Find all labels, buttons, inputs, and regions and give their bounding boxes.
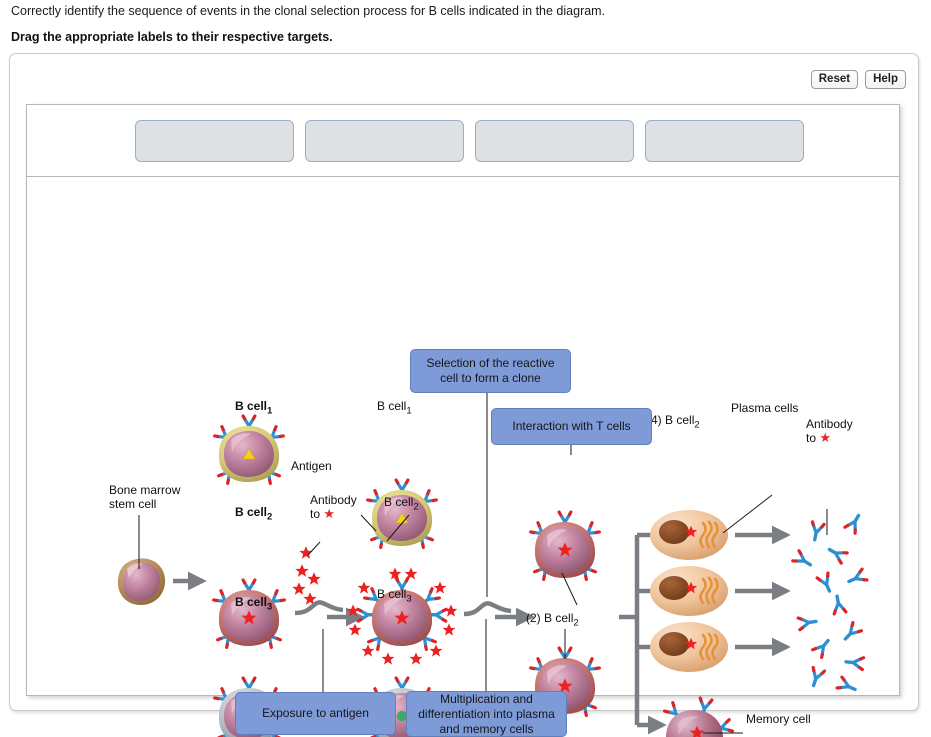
question-stem: Correctly identify the sequence of event… bbox=[11, 3, 891, 19]
b-cell-2-label-col-a: B cell2 bbox=[235, 505, 272, 524]
b-cell-1-text: B cell bbox=[235, 399, 267, 413]
antigen-star-glyph: ★ bbox=[323, 506, 335, 521]
b-cell-3-label-col-a: B cell3 bbox=[235, 595, 272, 614]
reset-button[interactable]: Reset bbox=[811, 70, 858, 89]
b-cell-1-sub: 1 bbox=[406, 405, 411, 416]
b-cell-1-text: B cell bbox=[377, 399, 406, 413]
antigen-star-glyph: ★ bbox=[819, 430, 831, 445]
b-cell-2-sub: 2 bbox=[413, 501, 418, 512]
drop-slot-1[interactable] bbox=[135, 120, 294, 162]
to-word: to bbox=[806, 431, 816, 445]
memory-cell-icon bbox=[665, 698, 733, 737]
drop-slot-2[interactable] bbox=[305, 120, 464, 162]
stem-cell-icon bbox=[118, 558, 165, 605]
antigen-star-icon bbox=[292, 546, 320, 605]
b-cell-2-label-col-b: B cell2 bbox=[384, 495, 419, 514]
b-cell-icon bbox=[531, 512, 600, 579]
b-cell-2-text: B cell bbox=[384, 495, 413, 509]
step-2-b-cell-label: (2) B cell2 bbox=[526, 611, 579, 630]
b-cell-2-sub: 2 bbox=[267, 511, 272, 522]
b-cell-2-text: B cell bbox=[235, 505, 267, 519]
question-instruction: Drag the appropriate labels to their res… bbox=[11, 29, 891, 45]
plasma-cell-icon bbox=[650, 566, 728, 616]
drop-slot-4[interactable] bbox=[645, 120, 804, 162]
help-button[interactable]: Help bbox=[865, 70, 906, 89]
antibody-word: Antibody bbox=[310, 493, 357, 507]
b-cell-3-sub: 3 bbox=[267, 601, 272, 612]
diagram-canvas: Bone marrow stem cell B cell1 B cell2 B … bbox=[27, 177, 901, 696]
memory-cell-label: Memory cell bbox=[746, 712, 811, 726]
b-cell-1-label-col-b: B cell1 bbox=[377, 399, 412, 418]
to-word: to bbox=[310, 507, 320, 521]
bone-marrow-line-2: stem cell bbox=[109, 497, 156, 511]
antibody-icon bbox=[793, 513, 867, 695]
b-cell-3-text: B cell bbox=[235, 595, 267, 609]
plasma-cell-icon bbox=[650, 622, 728, 672]
drop-slot-3[interactable] bbox=[475, 120, 634, 162]
activity-panel: Reset Help bbox=[9, 53, 919, 711]
step-2-prefix: (2) bbox=[526, 611, 541, 625]
label-bank-strip bbox=[27, 105, 899, 177]
step-4-cell: B cell bbox=[665, 413, 694, 427]
diagram-board: Bone marrow stem cell B cell1 B cell2 B … bbox=[26, 104, 900, 696]
antibody-to-label-left: Antibody to ★ bbox=[310, 493, 357, 521]
b-cell-icon bbox=[215, 416, 284, 483]
answer-label-t-cell-interaction[interactable]: Interaction with T cells bbox=[491, 408, 652, 445]
answer-label-exposure-antigen[interactable]: Exposure to antigen bbox=[235, 692, 396, 735]
diagram-artwork bbox=[27, 177, 901, 696]
antibody-to-label-right: Antibody to ★ bbox=[806, 417, 853, 445]
plasma-cell-icon bbox=[650, 510, 728, 560]
step-4-b-cell-label: (4) B cell2 bbox=[647, 413, 700, 432]
b-cell-1-sub: 1 bbox=[267, 405, 272, 416]
plasma-cells-label: Plasma cells bbox=[731, 401, 798, 415]
b-cell-1-label-col-a: B cell1 bbox=[235, 399, 272, 418]
antibody-word: Antibody bbox=[806, 417, 853, 431]
panel-toolbar: Reset Help bbox=[811, 70, 906, 89]
step-2-sub: 2 bbox=[573, 617, 578, 628]
b-cell-3-text: B cell bbox=[377, 587, 406, 601]
answer-label-selection-clone[interactable]: Selection of the reactive cell to form a… bbox=[410, 349, 571, 393]
bone-marrow-line-1: Bone marrow bbox=[109, 483, 180, 497]
b-cell-3-sub: 3 bbox=[406, 593, 411, 604]
b-cell-3-label-col-b: B cell3 bbox=[377, 587, 412, 606]
step-4-sub: 2 bbox=[694, 419, 699, 430]
b-cell-icon bbox=[347, 568, 458, 665]
antigen-label: Antigen bbox=[291, 459, 332, 473]
answer-label-multiplication-differentiation[interactable]: Multiplication and differentiation into … bbox=[406, 691, 567, 737]
bone-marrow-stem-cell-label: Bone marrow stem cell bbox=[109, 483, 180, 511]
step-2-cell: B cell bbox=[544, 611, 573, 625]
